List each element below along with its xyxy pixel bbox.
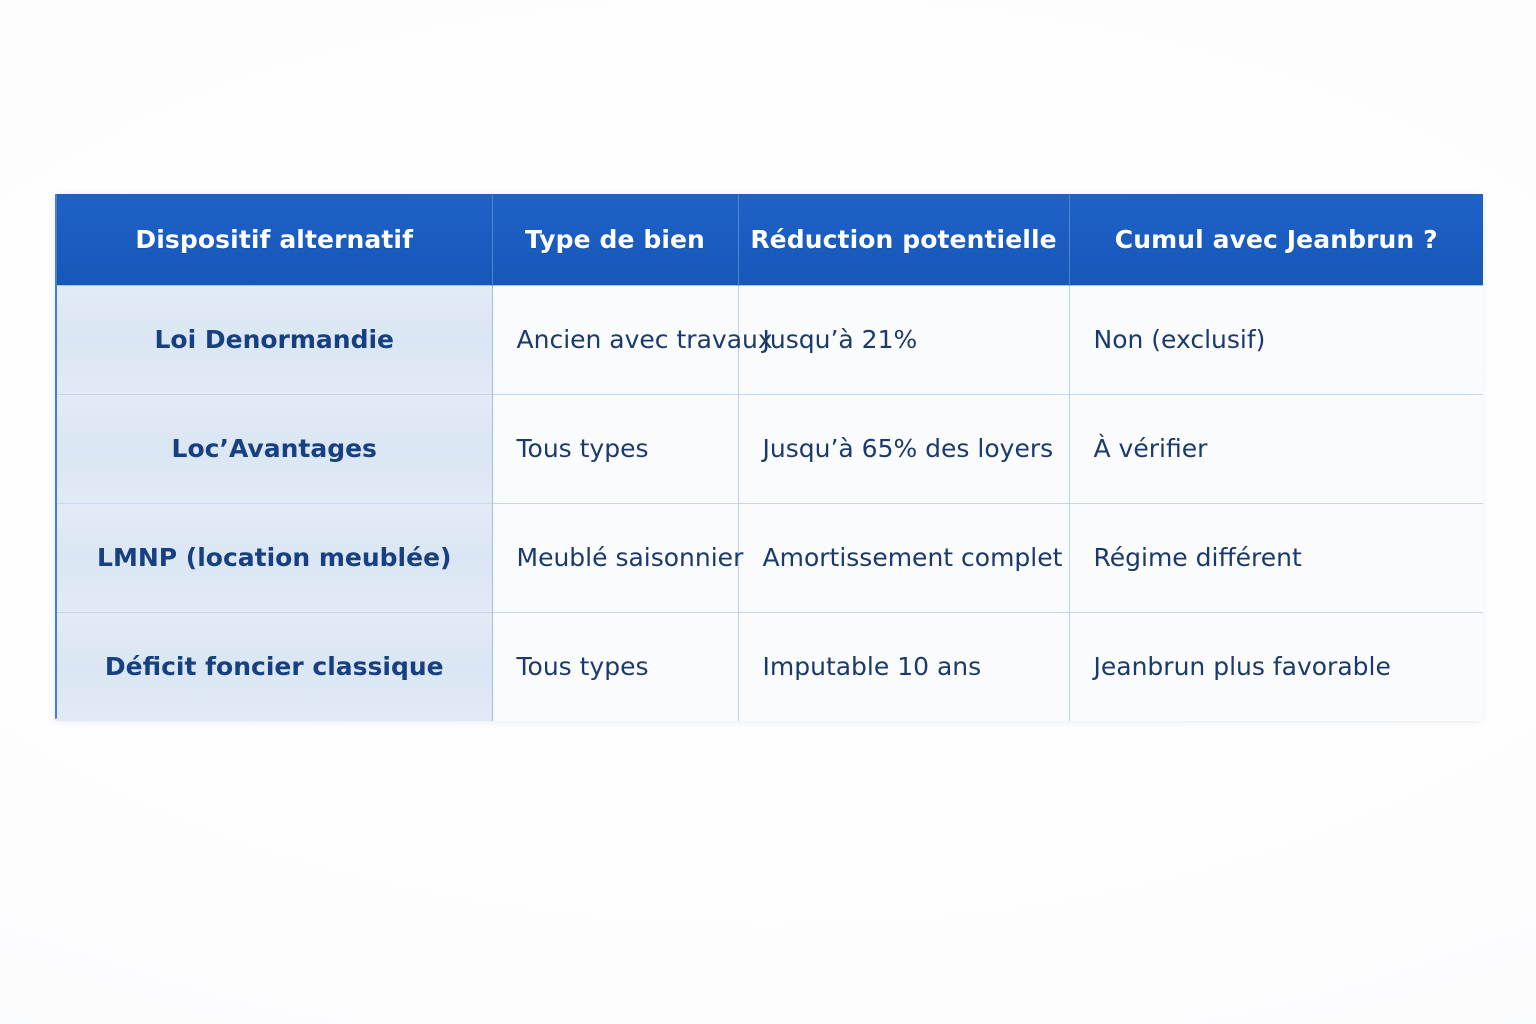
table-body: Loi Denormandie Ancien avec travaux Jusq… bbox=[57, 285, 1483, 721]
cell-reduction: Jusqu’à 65% des loyers bbox=[738, 394, 1069, 503]
cell-dispositif: Loi Denormandie bbox=[57, 285, 492, 394]
cell-cumul: Régime différent bbox=[1069, 503, 1483, 612]
cell-type-de-bien: Tous types bbox=[492, 612, 738, 721]
table-row: Loi Denormandie Ancien avec travaux Jusq… bbox=[57, 285, 1483, 394]
cell-cumul: Non (exclusif) bbox=[1069, 285, 1483, 394]
cell-type-de-bien: Ancien avec travaux bbox=[492, 285, 738, 394]
cell-reduction: Amortissement complet bbox=[738, 503, 1069, 612]
table-header-row: Dispositif alternatif Type de bien Réduc… bbox=[57, 194, 1483, 285]
cell-dispositif: Loc’Avantages bbox=[57, 394, 492, 503]
column-header-dispositif-alternatif: Dispositif alternatif bbox=[57, 194, 492, 285]
cell-type-de-bien: Meublé saisonnier bbox=[492, 503, 738, 612]
page-background: Dispositif alternatif Type de bien Réduc… bbox=[0, 0, 1536, 1024]
column-header-cumul-avec-jeanbrun: Cumul avec Jeanbrun ? bbox=[1069, 194, 1483, 285]
cell-dispositif: Déficit foncier classique bbox=[57, 612, 492, 721]
cell-cumul: À vérifier bbox=[1069, 394, 1483, 503]
table-row: LMNP (location meublée) Meublé saisonnie… bbox=[57, 503, 1483, 612]
cell-reduction: Jusqu’à 21% bbox=[738, 285, 1069, 394]
column-header-type-de-bien: Type de bien bbox=[492, 194, 738, 285]
table-row: Loc’Avantages Tous types Jusqu’à 65% des… bbox=[57, 394, 1483, 503]
cell-dispositif: LMNP (location meublée) bbox=[57, 503, 492, 612]
table-header: Dispositif alternatif Type de bien Réduc… bbox=[57, 194, 1483, 285]
comparison-table: Dispositif alternatif Type de bien Réduc… bbox=[57, 194, 1483, 721]
cell-cumul: Jeanbrun plus favorable bbox=[1069, 612, 1483, 721]
cell-reduction: Imputable 10 ans bbox=[738, 612, 1069, 721]
comparison-table-container: Dispositif alternatif Type de bien Réduc… bbox=[55, 194, 1481, 719]
table-row: Déficit foncier classique Tous types Imp… bbox=[57, 612, 1483, 721]
cell-type-de-bien: Tous types bbox=[492, 394, 738, 503]
column-header-reduction-potentielle: Réduction potentielle bbox=[738, 194, 1069, 285]
